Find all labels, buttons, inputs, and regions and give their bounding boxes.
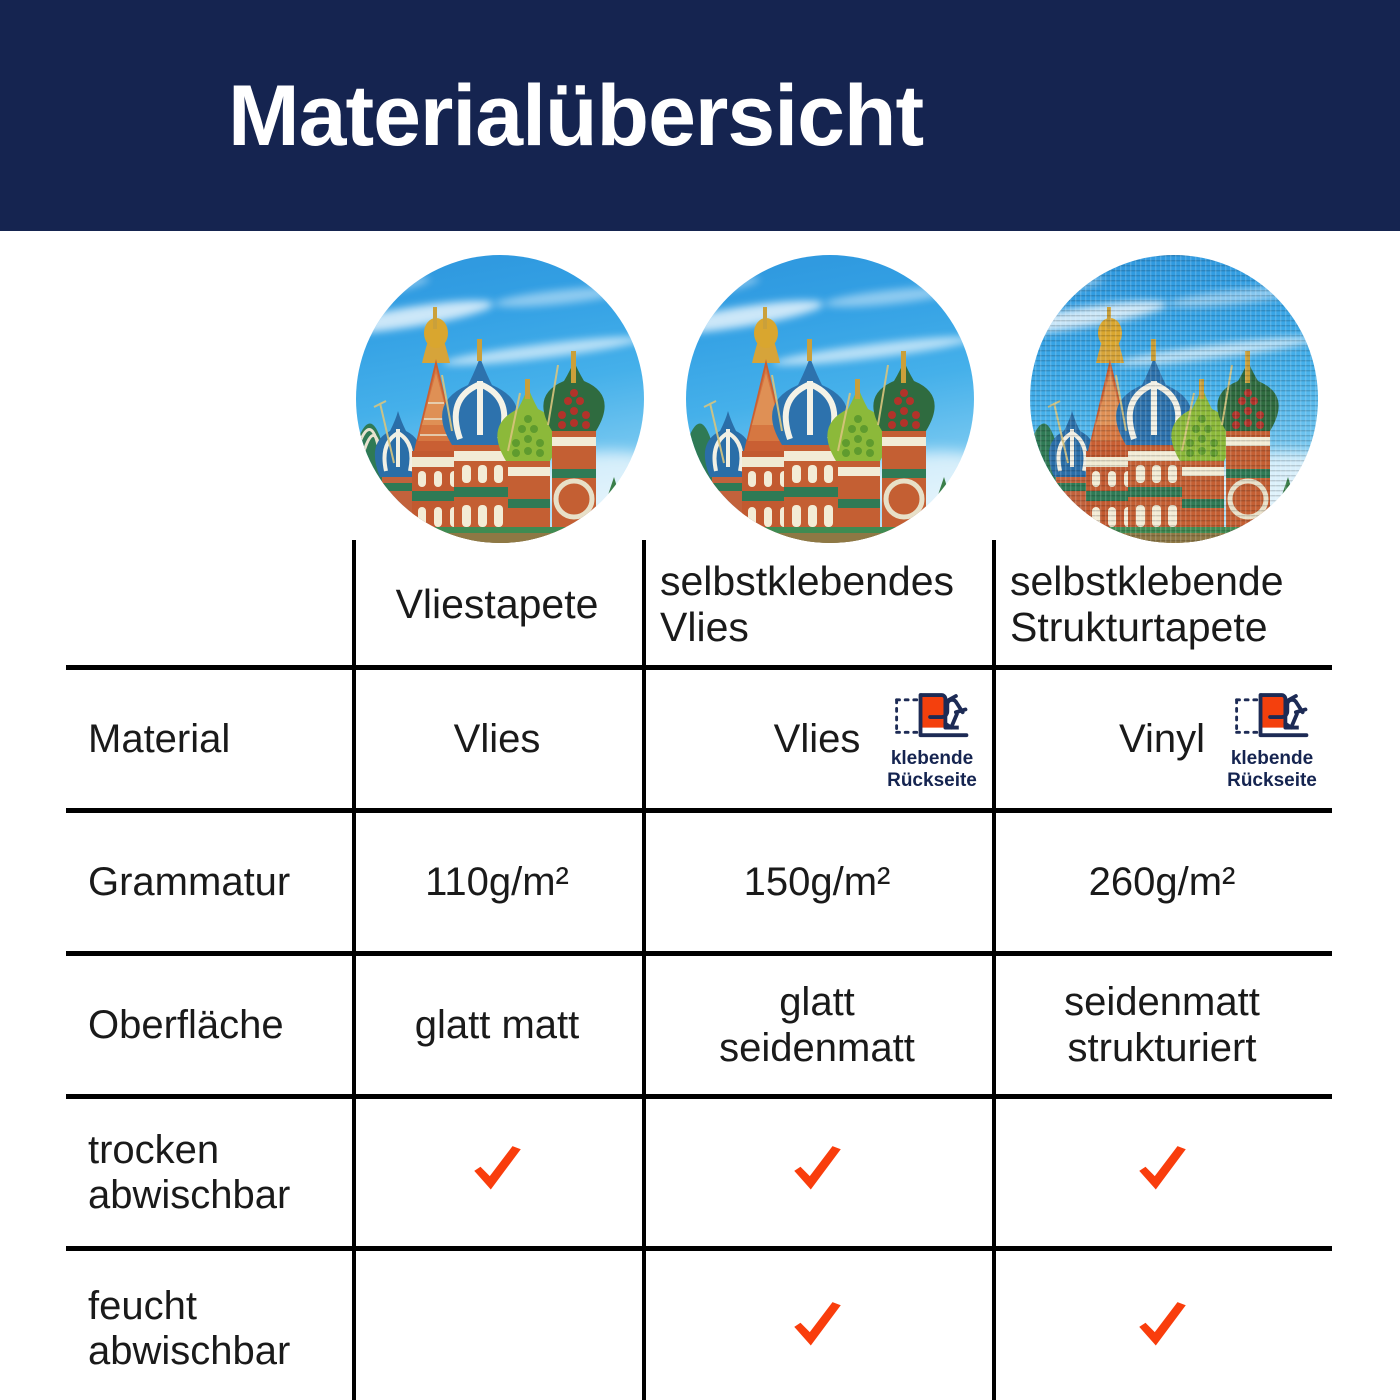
material-comparison-table: Vliestapete selbstklebendes Vlies selbst… bbox=[66, 540, 1332, 1400]
row-label-trocken-abwischbar: trocken abwischbar bbox=[66, 1097, 352, 1249]
column-header-line: Vlies bbox=[660, 604, 954, 650]
cell-material-strukturtapete: Vinyl bbox=[992, 668, 1332, 811]
structure-texture-overlay bbox=[1030, 255, 1318, 543]
row-label-grammatur: Grammatur bbox=[66, 811, 352, 954]
cell-value-line: strukturiert bbox=[1064, 1026, 1260, 1071]
table-corner-cell bbox=[66, 540, 352, 668]
row-label-line: abwischbar bbox=[88, 1173, 290, 1218]
no-check-placeholder bbox=[466, 1298, 528, 1360]
cell-trocken-selbstklebendes-vlies bbox=[642, 1097, 992, 1249]
row-label-line: Material bbox=[88, 717, 230, 762]
row-label-line: Grammatur bbox=[88, 860, 290, 905]
header-banner: Materialübersicht bbox=[0, 0, 1400, 231]
column-header-selbstklebendes-vlies: selbstklebendes Vlies bbox=[642, 540, 992, 668]
adhesive-back-badge-text: klebende Rückseite bbox=[887, 748, 977, 793]
cell-value: Vlies bbox=[454, 717, 541, 762]
cell-value: glatt matt bbox=[415, 1003, 580, 1048]
table-row: Material Vlies Vlies bbox=[66, 668, 1332, 811]
page-title: Materialübersicht bbox=[228, 73, 923, 159]
row-label-oberflaeche: Oberfläche bbox=[66, 954, 352, 1097]
cell-material-selbstklebendes-vlies: Vlies bbox=[642, 668, 992, 811]
peel-adhesive-back-icon bbox=[1228, 687, 1316, 745]
cell-feucht-vliestapete bbox=[352, 1249, 642, 1400]
cell-oberflaeche-vliestapete: glatt matt bbox=[352, 954, 642, 1097]
cell-value: 110g/m² bbox=[425, 860, 569, 905]
adhesive-back-badge: klebende Rückseite bbox=[1218, 687, 1326, 793]
column-header-line: Vliestapete bbox=[396, 581, 599, 627]
cell-grammatur-strukturtapete: 260g/m² bbox=[992, 811, 1332, 954]
cell-oberflaeche-selbstklebendes-vlies: glatt seidenmatt bbox=[642, 954, 992, 1097]
column-header-line: selbstklebendes bbox=[660, 558, 954, 604]
check-icon bbox=[786, 1298, 848, 1360]
cathedral-illustration bbox=[686, 255, 974, 543]
cathedral-illustration bbox=[356, 255, 644, 543]
row-label-line: Oberfläche bbox=[88, 1003, 284, 1048]
badge-line-2: Rückseite bbox=[1227, 770, 1317, 792]
cell-oberflaeche-strukturtapete: seidenmatt strukturiert bbox=[992, 954, 1332, 1097]
product-thumbnail-selbstklebendes-vlies bbox=[686, 255, 974, 543]
cell-material-vliestapete: Vlies bbox=[352, 668, 642, 811]
adhesive-back-badge: klebende Rückseite bbox=[878, 687, 986, 793]
material-overview-page: Materialübersicht bbox=[0, 0, 1400, 1400]
badge-line-1: klebende bbox=[1227, 748, 1317, 770]
check-icon bbox=[466, 1142, 528, 1204]
column-header-line: selbstklebende bbox=[1010, 558, 1284, 604]
row-label-line: trocken bbox=[88, 1128, 290, 1173]
cell-feucht-strukturtapete bbox=[992, 1249, 1332, 1400]
badge-line-1: klebende bbox=[887, 748, 977, 770]
table-row: trocken abwischbar bbox=[66, 1097, 1332, 1249]
column-header-vliestapete: Vliestapete bbox=[352, 540, 642, 668]
cell-value: 260g/m² bbox=[1089, 860, 1236, 905]
cell-trocken-strukturtapete bbox=[992, 1097, 1332, 1249]
product-thumbnail-vliestapete bbox=[356, 255, 644, 543]
row-label-feucht-abwischbar: feucht abwischbar bbox=[66, 1249, 352, 1400]
badge-line-2: Rückseite bbox=[887, 770, 977, 792]
cathedral-illustration bbox=[1030, 255, 1318, 543]
product-thumbnail-row bbox=[0, 255, 1400, 555]
product-thumbnail-strukturtapete bbox=[1030, 255, 1318, 543]
cell-value: 150g/m² bbox=[744, 860, 891, 905]
row-label-line: abwischbar bbox=[88, 1329, 290, 1374]
check-icon bbox=[1131, 1142, 1193, 1204]
column-header-line: Strukturtapete bbox=[1010, 604, 1284, 650]
cell-grammatur-vliestapete: 110g/m² bbox=[352, 811, 642, 954]
table-row: feucht abwischbar bbox=[66, 1249, 1332, 1400]
column-header-strukturtapete: selbstklebende Strukturtapete bbox=[992, 540, 1332, 668]
adhesive-back-badge-text: klebende Rückseite bbox=[1227, 748, 1317, 793]
table-row: Grammatur 110g/m² 150g/m² 260g/m² bbox=[66, 811, 1332, 954]
cell-value-line: seidenmatt bbox=[719, 1026, 915, 1071]
row-label-line: feucht bbox=[88, 1284, 290, 1329]
row-label-material: Material bbox=[66, 668, 352, 811]
cell-value-line: glatt bbox=[719, 980, 915, 1025]
cell-value: Vlies bbox=[774, 717, 861, 762]
table-header-row: Vliestapete selbstklebendes Vlies selbst… bbox=[66, 540, 1332, 668]
cell-grammatur-selbstklebendes-vlies: 150g/m² bbox=[642, 811, 992, 954]
cell-feucht-selbstklebendes-vlies bbox=[642, 1249, 992, 1400]
cell-value: Vinyl bbox=[1119, 717, 1205, 762]
table-row: Oberfläche glatt matt glatt seidenmatt s… bbox=[66, 954, 1332, 1097]
peel-adhesive-back-icon bbox=[888, 687, 976, 745]
check-icon bbox=[786, 1142, 848, 1204]
cell-value-line: seidenmatt bbox=[1064, 980, 1260, 1025]
cell-trocken-vliestapete bbox=[352, 1097, 642, 1249]
check-icon bbox=[1131, 1298, 1193, 1360]
